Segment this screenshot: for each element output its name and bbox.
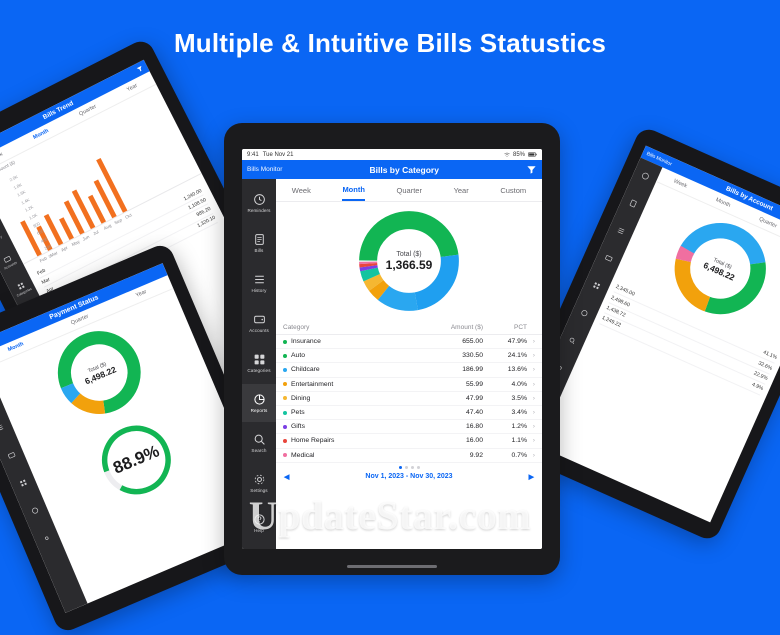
- cell-amount: 55.99: [413, 381, 483, 388]
- tab-quarter[interactable]: Quarter: [397, 186, 422, 195]
- gear-icon: [42, 533, 52, 543]
- category-table-body: Insurance 655.00 47.9% › Auto 330.50 24.…: [276, 335, 542, 463]
- chevron-right-icon: ›: [529, 423, 535, 430]
- sidebar-item-label: Reports: [251, 408, 268, 413]
- table-row[interactable]: Home Repairs 16.00 1.1% ›: [276, 434, 542, 448]
- table-row[interactable]: Gifts 16.80 1.2% ›: [276, 420, 542, 434]
- status-time: 9:41: [247, 152, 259, 158]
- chevron-right-icon: ›: [529, 381, 535, 388]
- document-icon: [253, 233, 266, 246]
- sidebar-item-settings[interactable]: Settings: [242, 464, 276, 502]
- tab-month[interactable]: Month: [7, 341, 25, 353]
- filter-icon[interactable]: [526, 164, 537, 175]
- clock-icon: [640, 171, 651, 182]
- color-swatch: [283, 453, 287, 457]
- tab-quarter[interactable]: Quarter: [758, 216, 778, 229]
- cell-pct: 3.4%: [483, 409, 529, 416]
- list-icon: [616, 226, 627, 237]
- pager-dot[interactable]: [399, 466, 402, 469]
- col-pct: PCT: [483, 324, 535, 331]
- tab-week[interactable]: Week: [292, 186, 311, 195]
- cell-amount: 330.50: [413, 352, 483, 359]
- donut-label: Total ($): [386, 251, 433, 258]
- cell-pct: 13.6%: [483, 366, 529, 373]
- pager-dots[interactable]: [276, 463, 542, 471]
- sidebar-item-reminders[interactable]: Reminders: [242, 184, 276, 222]
- chevron-right-icon: ›: [529, 409, 535, 416]
- cell-category: Insurance: [291, 338, 413, 345]
- color-swatch: [283, 411, 287, 415]
- grid-icon: [253, 353, 266, 366]
- table-row[interactable]: Pets 47.40 3.4% ›: [276, 406, 542, 420]
- tab-month[interactable]: Month: [342, 179, 365, 201]
- center-sidebar: Reminders Bills History Accounts Categor…: [242, 179, 276, 549]
- status-battery: 85%: [513, 152, 525, 158]
- sidebar-item-label: Bills: [255, 248, 264, 253]
- grid-icon: [591, 280, 602, 291]
- sidebar-item-label: Settings: [250, 488, 267, 493]
- tab-custom[interactable]: Custom: [500, 186, 526, 195]
- sidebar-item-accounts[interactable]: Accounts: [242, 304, 276, 342]
- sidebar-item-categories[interactable]: Categories: [242, 344, 276, 382]
- category-table-header: Category Amount ($) PCT: [276, 320, 542, 335]
- status-date: Tue Nov 21: [263, 152, 294, 158]
- pager-dot[interactable]: [411, 466, 414, 469]
- center-nav-title: Bills by Category: [369, 165, 438, 175]
- sidebar-item-history[interactable]: History: [242, 264, 276, 302]
- cell-amount: 47.99: [413, 395, 483, 402]
- cell-pct: 3.5%: [483, 395, 529, 402]
- cell-amount: 47.40: [413, 409, 483, 416]
- center-donut-center: Total ($) 1,366.59: [386, 251, 433, 272]
- date-range-bar: ◀ Nov 1, 2023 - Nov 30, 2023 ▶: [276, 471, 542, 483]
- cell-pct: 47.9%: [483, 338, 529, 345]
- table-row[interactable]: Insurance 655.00 47.9% ›: [276, 335, 542, 349]
- center-app-name: Bills Monitor: [247, 166, 282, 173]
- grid-icon: [18, 478, 28, 488]
- cell-category: Auto: [291, 352, 413, 359]
- search-icon: [567, 335, 578, 346]
- cell-amount: 16.80: [413, 423, 483, 430]
- table-row[interactable]: Auto 330.50 24.1% ›: [276, 349, 542, 363]
- center-screen: 9:41 Tue Nov 21 85% Bills Monitor Bills …: [242, 149, 542, 549]
- sidebar-item-label: Search: [251, 448, 266, 453]
- gear-icon: [253, 473, 266, 486]
- cell-pct: 0.7%: [483, 452, 529, 459]
- table-row[interactable]: Childcare 186.99 13.6% ›: [276, 363, 542, 377]
- chevron-right-icon: ›: [529, 395, 535, 402]
- center-navbar: Bills Monitor Bills by Category: [242, 160, 542, 179]
- sidebar-item-bills[interactable]: Bills: [242, 224, 276, 262]
- chevron-right-icon: ›: [529, 352, 535, 359]
- sidebar-item-label: Help: [254, 528, 264, 533]
- tablet-bills-by-category: 9:41 Tue Nov 21 85% Bills Monitor Bills …: [224, 123, 560, 575]
- sidebar-item-label: Accounts: [249, 328, 269, 333]
- wifi-icon: [504, 152, 510, 158]
- cell-amount: 186.99: [413, 366, 483, 373]
- color-swatch: [283, 340, 287, 344]
- cell-category: Pets: [291, 409, 413, 416]
- battery-icon: [528, 152, 537, 157]
- tab-year[interactable]: Year: [454, 186, 469, 195]
- center-main: Week Month Quarter Year Custom: [276, 179, 542, 549]
- col-amount: Amount ($): [413, 324, 483, 331]
- chevron-right-icon: ›: [529, 338, 535, 345]
- bar: [59, 217, 74, 240]
- tab-year[interactable]: Year: [135, 289, 148, 299]
- sidebar-item-label: History: [252, 288, 267, 293]
- pie-chart-icon: [253, 393, 266, 406]
- table-row[interactable]: Medical 9.92 0.7% ›: [276, 449, 542, 463]
- cell-pct: 1.2%: [483, 423, 529, 430]
- cell-category: Home Repairs: [291, 437, 413, 444]
- wallet-icon: [604, 253, 615, 264]
- cell-category: Gifts: [291, 423, 413, 430]
- cell-pct: 24.1%: [483, 352, 529, 359]
- color-swatch: [283, 425, 287, 429]
- list-icon: [0, 423, 5, 433]
- sidebar-item-label: History: [0, 234, 2, 242]
- cell-category: Dining: [291, 395, 413, 402]
- sidebar-item-help[interactable]: Help: [242, 504, 276, 542]
- cell-category: Medical: [291, 452, 413, 459]
- color-swatch: [283, 396, 287, 400]
- status-bar: 9:41 Tue Nov 21 85%: [242, 149, 542, 160]
- next-period-button[interactable]: ▶: [529, 473, 534, 481]
- list-icon: [253, 273, 266, 286]
- sidebar-item-search[interactable]: Search: [242, 424, 276, 462]
- cell-category: Childcare: [291, 366, 413, 373]
- center-period-tabs: Week Month Quarter Year Custom: [276, 179, 542, 202]
- donut-value: 1,366.59: [386, 258, 433, 272]
- sidebar-item-reports[interactable]: Reports: [242, 384, 276, 422]
- sidebar-item-label: Reminders: [247, 208, 270, 213]
- clock-icon: [253, 193, 266, 206]
- cell-amount: 655.00: [413, 338, 483, 345]
- pie-chart-icon: [30, 505, 40, 515]
- prev-period-button[interactable]: ◀: [284, 473, 289, 481]
- chevron-right-icon: ›: [529, 452, 535, 459]
- cell-amount: 9.92: [413, 452, 483, 459]
- table-row[interactable]: Entertainment 55.99 4.0% ›: [276, 378, 542, 392]
- document-icon: [628, 198, 639, 209]
- pager-dot[interactable]: [417, 466, 420, 469]
- filter-icon[interactable]: [135, 64, 144, 73]
- help-icon: [253, 513, 266, 526]
- center-donut-chart[interactable]: Total ($) 1,366.59: [276, 202, 542, 320]
- pie-chart-icon: [579, 308, 590, 319]
- wallet-icon: [6, 450, 16, 460]
- row-pct: 4.9%: [751, 382, 764, 392]
- home-indicator: [347, 565, 437, 568]
- color-swatch: [283, 354, 287, 358]
- search-icon: [253, 433, 266, 446]
- cell-amount: 16.00: [413, 437, 483, 444]
- chevron-right-icon: ›: [529, 366, 535, 373]
- cell-category: Entertainment: [291, 381, 413, 388]
- color-swatch: [283, 368, 287, 372]
- pager-dot[interactable]: [405, 466, 408, 469]
- cell-pct: 1.1%: [483, 437, 529, 444]
- col-category: Category: [283, 324, 413, 331]
- sidebar-item-label: Categories: [247, 368, 270, 373]
- wallet-icon: [253, 313, 266, 326]
- date-range-label[interactable]: Nov 1, 2023 - Nov 30, 2023: [365, 473, 452, 480]
- color-swatch: [283, 439, 287, 443]
- table-row[interactable]: Dining 47.99 3.5% ›: [276, 392, 542, 406]
- tab-year[interactable]: Year: [126, 83, 139, 93]
- cell-pct: 4.0%: [483, 381, 529, 388]
- chevron-right-icon: ›: [529, 437, 535, 444]
- tab-month[interactable]: Month: [715, 197, 732, 209]
- color-swatch: [283, 382, 287, 386]
- tab-week[interactable]: Week: [673, 178, 688, 189]
